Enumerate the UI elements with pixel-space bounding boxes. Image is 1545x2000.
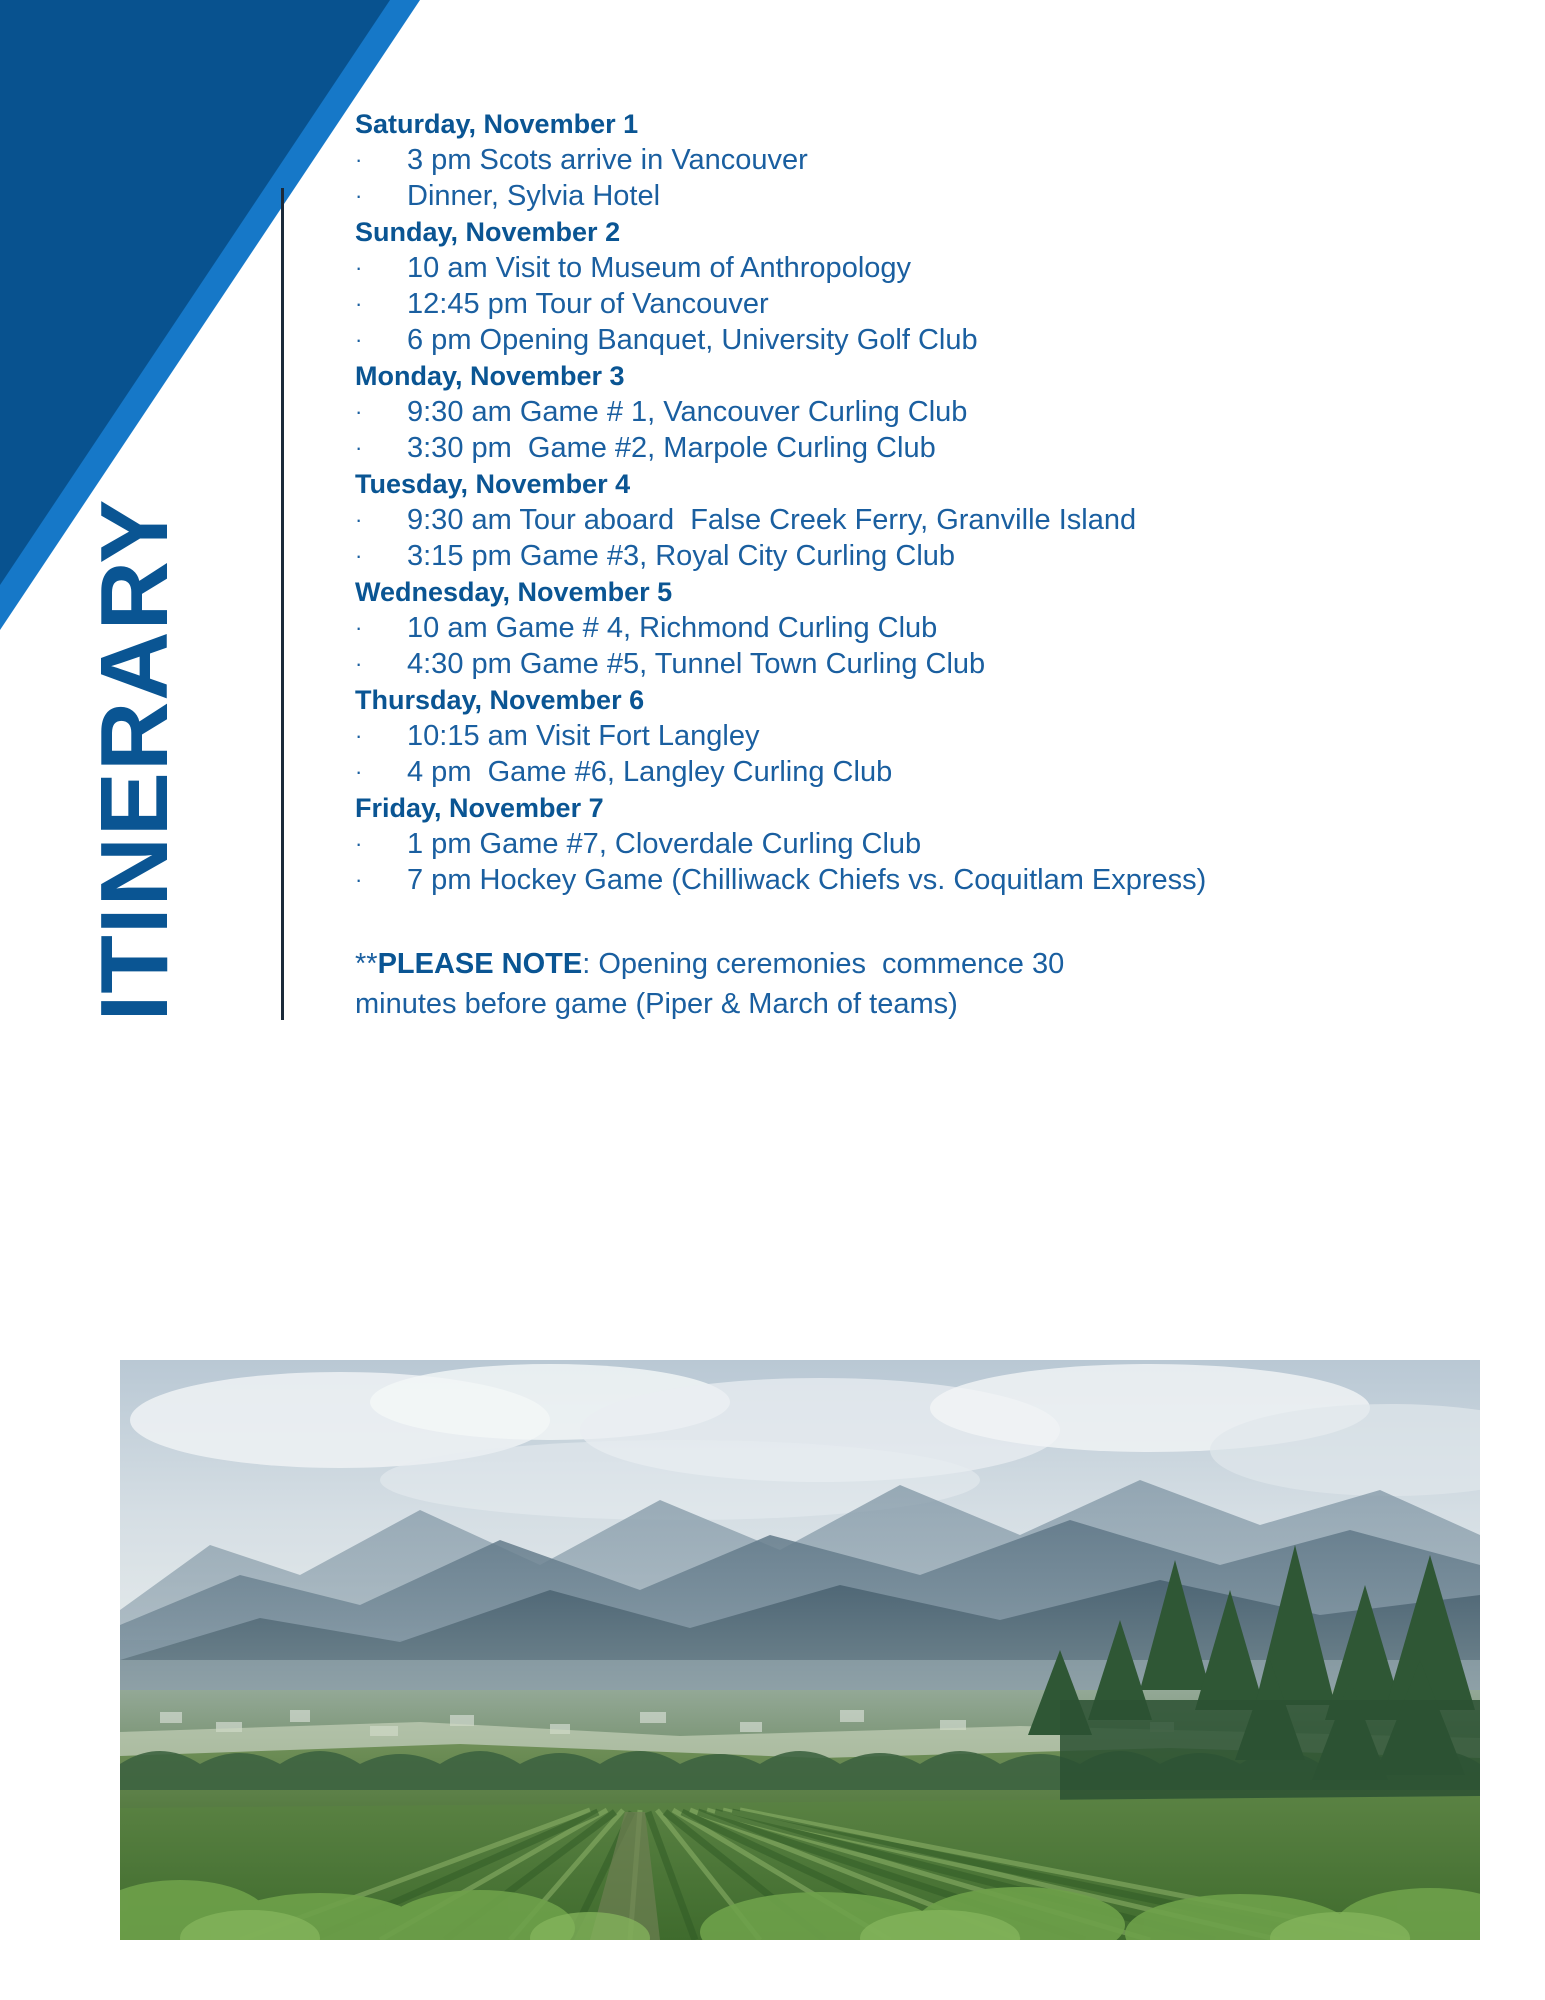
please-note-paragraph: **PLEASE NOTE: Opening ceremonies commen… — [355, 944, 1155, 1024]
event-label: 4:30 pm Game #5, Tunnel Town Curling Clu… — [407, 646, 985, 682]
bullet-icon: · — [355, 502, 407, 538]
day-heading: Monday, November 3 — [355, 358, 1505, 394]
day-heading: Wednesday, November 5 — [355, 574, 1505, 610]
day-block-tuesday: Tuesday, November 4 · 9:30 am Tour aboar… — [355, 466, 1505, 574]
day-heading: Thursday, November 6 — [355, 682, 1505, 718]
bullet-icon: · — [355, 610, 407, 646]
event-label: 10 am Visit to Museum of Anthropology — [407, 250, 911, 286]
event-label: 6 pm Opening Banquet, University Golf Cl… — [407, 322, 978, 358]
event-item: · 3:30 pm Game #2, Marpole Curling Club — [355, 430, 1505, 466]
event-item: · 4:30 pm Game #5, Tunnel Town Curling C… — [355, 646, 1505, 682]
vertical-divider — [281, 188, 284, 1020]
bullet-icon: · — [355, 718, 407, 754]
note-asterisks: ** — [355, 948, 378, 980]
bullet-icon: · — [355, 646, 407, 682]
event-label: 9:30 am Game # 1, Vancouver Curling Club — [407, 394, 967, 430]
bullet-icon: · — [355, 754, 407, 790]
event-label: Dinner, Sylvia Hotel — [407, 178, 660, 214]
event-item: · 10 am Visit to Museum of Anthropology — [355, 250, 1505, 286]
itinerary-page: ITINERARY Saturday, November 1 · 3 pm Sc… — [0, 0, 1545, 2000]
bullet-icon: · — [355, 538, 407, 574]
event-item: · 10 am Game # 4, Richmond Curling Club — [355, 610, 1505, 646]
event-label: 3:30 pm Game #2, Marpole Curling Club — [407, 430, 936, 466]
note-bold-label: PLEASE NOTE — [378, 948, 583, 980]
event-label: 3 pm Scots arrive in Vancouver — [407, 142, 808, 178]
event-item: · 9:30 am Tour aboard False Creek Ferry,… — [355, 502, 1505, 538]
event-item: · 1 pm Game #7, Cloverdale Curling Club — [355, 826, 1505, 862]
event-item: · 3:15 pm Game #3, Royal City Curling Cl… — [355, 538, 1505, 574]
day-heading: Friday, November 7 — [355, 790, 1505, 826]
day-block-friday: Friday, November 7 · 1 pm Game #7, Clove… — [355, 790, 1505, 898]
bullet-icon: · — [355, 322, 407, 358]
bullet-icon: · — [355, 862, 407, 898]
event-label: 7 pm Hockey Game (Chilliwack Chiefs vs. … — [407, 862, 1206, 898]
event-item: · 6 pm Opening Banquet, University Golf … — [355, 322, 1505, 358]
event-item: · 3 pm Scots arrive in Vancouver — [355, 142, 1505, 178]
event-label: 1 pm Game #7, Cloverdale Curling Club — [407, 826, 921, 862]
bullet-icon: · — [355, 178, 407, 214]
event-item: · 7 pm Hockey Game (Chilliwack Chiefs vs… — [355, 862, 1505, 898]
page-title: ITINERARY — [87, 499, 183, 1022]
event-item: · Dinner, Sylvia Hotel — [355, 178, 1505, 214]
event-label: 9:30 am Tour aboard False Creek Ferry, G… — [407, 502, 1136, 538]
day-block-wednesday: Wednesday, November 5 · 10 am Game # 4, … — [355, 574, 1505, 682]
day-heading: Sunday, November 2 — [355, 214, 1505, 250]
bullet-icon: · — [355, 142, 407, 178]
bullet-icon: · — [355, 430, 407, 466]
bullet-icon: · — [355, 250, 407, 286]
page-title-rail: ITINERARY — [0, 430, 270, 1090]
event-item: · 10:15 am Visit Fort Langley — [355, 718, 1505, 754]
event-label: 12:45 pm Tour of Vancouver — [407, 286, 769, 322]
event-item: · 12:45 pm Tour of Vancouver — [355, 286, 1505, 322]
event-label: 3:15 pm Game #3, Royal City Curling Club — [407, 538, 955, 574]
valley-landscape-photo — [120, 1360, 1480, 1940]
itinerary-list: Saturday, November 1 · 3 pm Scots arrive… — [355, 106, 1505, 1024]
bullet-icon: · — [355, 394, 407, 430]
day-block-monday: Monday, November 3 · 9:30 am Game # 1, V… — [355, 358, 1505, 466]
event-label: 4 pm Game #6, Langley Curling Club — [407, 754, 892, 790]
day-block-thursday: Thursday, November 6 · 10:15 am Visit Fo… — [355, 682, 1505, 790]
event-label: 10:15 am Visit Fort Langley — [407, 718, 760, 754]
event-item: · 4 pm Game #6, Langley Curling Club — [355, 754, 1505, 790]
bullet-icon: · — [355, 826, 407, 862]
day-block-sunday: Sunday, November 2 · 10 am Visit to Muse… — [355, 214, 1505, 358]
day-heading: Saturday, November 1 — [355, 106, 1505, 142]
day-heading: Tuesday, November 4 — [355, 466, 1505, 502]
photo-illustration — [120, 1360, 1480, 1940]
event-item: · 9:30 am Game # 1, Vancouver Curling Cl… — [355, 394, 1505, 430]
bullet-icon: · — [355, 286, 407, 322]
day-block-saturday: Saturday, November 1 · 3 pm Scots arrive… — [355, 106, 1505, 214]
event-label: 10 am Game # 4, Richmond Curling Club — [407, 610, 937, 646]
